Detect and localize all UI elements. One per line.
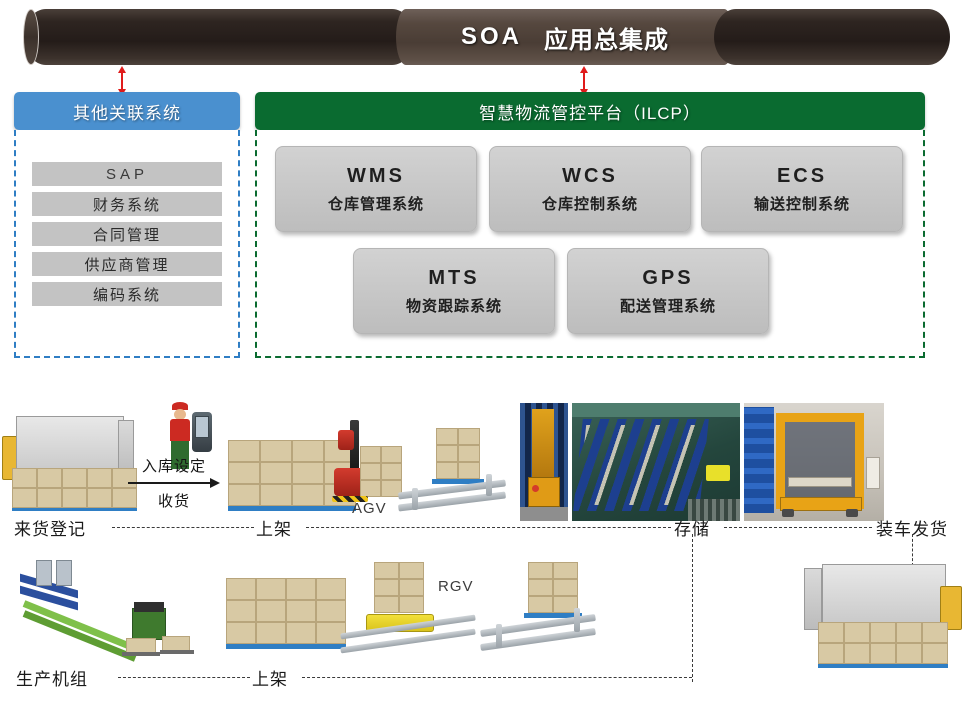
list-item-label: 财务系统 — [93, 194, 161, 215]
module-name: 输送控制系统 — [754, 193, 850, 214]
process-arrow-top-label: 入库设定 — [128, 455, 220, 476]
flow-dash-4 — [118, 677, 250, 678]
panel-title-ilcp: 智慧物流管控平台（ILCP） — [479, 99, 701, 124]
module-card-gps[interactable]: GPS 配送管理系统 — [567, 248, 769, 334]
module-code: WCS — [562, 165, 618, 188]
soa-bar-title-en: SOA — [461, 23, 522, 51]
module-name: 仓库管理系统 — [328, 193, 424, 214]
flow-label-goods-registration: 来货登记 — [14, 515, 86, 540]
soa-bar-left-cap — [23, 9, 39, 65]
panel-title-other-systems: 其他关联系统 — [73, 99, 181, 124]
module-name: 配送管理系统 — [620, 295, 716, 316]
illustration-inbound-truck — [2, 412, 142, 512]
flow-dash-5 — [302, 677, 692, 678]
process-arrow-inbound: 入库设定 收货 — [128, 455, 220, 511]
process-arrow-bottom-label: 收货 — [128, 490, 220, 511]
module-card-wms[interactable]: WMS 仓库管理系统 — [275, 146, 477, 232]
illustration-outbound-truck — [804, 562, 964, 674]
photo-narrow-aisle-stacker — [520, 403, 568, 521]
panel-body-ilcp: WMS 仓库管理系统 WCS 仓库控制系统 ECS 输送控制系统 MTS 物资跟… — [255, 130, 925, 358]
soa-bar-right-segment — [714, 9, 950, 65]
illustration-conveyor-bottom — [480, 562, 600, 654]
list-item-sap[interactable]: SAP — [32, 162, 222, 186]
flow-label-production-unit: 生产机组 — [16, 665, 88, 690]
module-name: 仓库控制系统 — [542, 193, 638, 214]
module-name: 物资跟踪系统 — [406, 295, 502, 316]
list-item-label: SAP — [106, 166, 148, 183]
process-arrow-line — [128, 478, 220, 488]
flow-label-putaway-top: 上架 — [256, 515, 292, 540]
panel-header-ilcp: 智慧物流管控平台（ILCP） — [255, 92, 925, 130]
photo-warehouse-aerial — [572, 403, 740, 521]
list-item-label: 供应商管理 — [84, 254, 169, 275]
soa-integration-bar: SOA 应用总集成 — [24, 9, 950, 65]
module-code: MTS — [428, 267, 479, 290]
module-card-wcs[interactable]: WCS 仓库控制系统 — [489, 146, 691, 232]
list-item-supplier[interactable]: 供应商管理 — [32, 252, 222, 276]
panel-body-other-systems: SAP 财务系统 合同管理 供应商管理 编码系统 — [14, 130, 240, 358]
illustration-rgv — [340, 562, 480, 654]
photo-transfer-shuttle — [744, 403, 884, 521]
label-rgv: RGV — [438, 578, 474, 595]
soa-bar-title: SOA 应用总集成 — [396, 9, 734, 65]
flow-dash-1 — [112, 527, 254, 528]
module-code: GPS — [642, 267, 693, 290]
flow-dash-3 — [724, 527, 872, 528]
illustration-production-line — [14, 560, 204, 658]
list-item-label: 合同管理 — [93, 224, 161, 245]
illustration-conveyor-top — [398, 428, 510, 512]
soa-bar-left-segment — [24, 9, 414, 65]
list-item-coding[interactable]: 编码系统 — [32, 282, 222, 306]
panel-header-other-systems: 其他关联系统 — [14, 92, 240, 130]
label-agv: AGV — [352, 500, 387, 517]
list-item-label: 编码系统 — [93, 284, 161, 305]
list-item-finance[interactable]: 财务系统 — [32, 192, 222, 216]
flow-dash-storage-down — [692, 534, 693, 682]
module-card-ecs[interactable]: ECS 输送控制系统 — [701, 146, 903, 232]
flow-label-putaway-bottom: 上架 — [252, 665, 288, 690]
module-code: WMS — [347, 165, 405, 188]
list-item-contract[interactable]: 合同管理 — [32, 222, 222, 246]
soa-bar-title-zh: 应用总集成 — [544, 20, 669, 55]
module-code: ECS — [777, 165, 827, 188]
flow-dash-2 — [306, 527, 671, 528]
illustration-pallet-stack-bottom — [226, 578, 350, 650]
module-card-mts[interactable]: MTS 物资跟踪系统 — [353, 248, 555, 334]
